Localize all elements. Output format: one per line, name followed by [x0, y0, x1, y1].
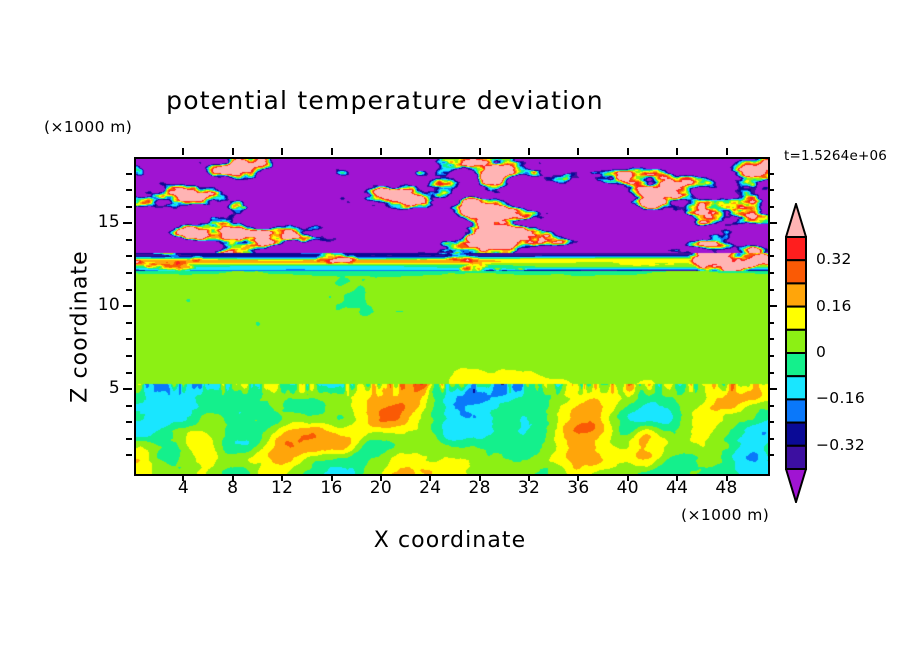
x-tick-label: 40	[608, 478, 648, 498]
y-tick	[126, 255, 132, 257]
y-tick	[768, 239, 774, 241]
y-tick	[768, 255, 774, 257]
y-tick	[768, 305, 777, 307]
x-tick	[577, 148, 579, 155]
x-tick-label: 20	[361, 478, 401, 498]
y-tick	[768, 222, 777, 224]
x-tick-label: 8	[213, 478, 253, 498]
y-tick	[126, 272, 132, 274]
y-tick	[126, 322, 132, 324]
contour-field	[136, 159, 768, 474]
x-axis-units-label: (×1000 m)	[681, 506, 769, 524]
y-tick	[126, 173, 132, 175]
x-tick-label: 16	[312, 478, 352, 498]
y-tick	[126, 206, 132, 208]
y-tick	[126, 454, 132, 456]
y-tick	[123, 388, 132, 390]
y-tick	[126, 405, 132, 407]
x-tick-label: 44	[657, 478, 697, 498]
x-tick	[528, 148, 530, 155]
y-tick	[123, 305, 132, 307]
y-tick	[126, 355, 132, 357]
y-tick	[768, 438, 774, 440]
y-tick	[768, 338, 774, 340]
y-tick	[126, 421, 132, 423]
x-tick-label: 12	[262, 478, 302, 498]
y-tick	[126, 189, 132, 191]
colorbar	[785, 203, 807, 503]
y-tick	[768, 388, 777, 390]
x-axis-title: X coordinate	[134, 528, 766, 553]
x-tick	[331, 148, 333, 155]
colorbar-tick-label: 0	[816, 343, 826, 361]
colorbar-swatches	[785, 203, 807, 503]
y-axis-units-label: (×1000 m)	[44, 118, 132, 136]
time-annotation: t=1.5264e+06	[784, 148, 887, 164]
y-tick	[768, 206, 774, 208]
y-tick	[768, 272, 774, 274]
x-tick	[182, 148, 184, 155]
y-tick	[126, 438, 132, 440]
x-tick	[726, 148, 728, 155]
y-tick	[768, 454, 774, 456]
y-tick	[768, 322, 774, 324]
y-tick	[126, 289, 132, 291]
x-tick	[676, 148, 678, 155]
y-tick	[768, 173, 774, 175]
plot-area	[134, 157, 770, 476]
y-axis-title: Z coordinate	[68, 207, 93, 447]
page-title: potential temperature deviation	[0, 86, 770, 115]
x-tick	[281, 148, 283, 155]
x-tick-label: 32	[509, 478, 549, 498]
colorbar-tick-label: −0.32	[816, 436, 865, 454]
y-tick	[768, 421, 774, 423]
y-tick	[126, 372, 132, 374]
x-tick	[429, 148, 431, 155]
x-tick-label: 28	[460, 478, 500, 498]
x-tick-label: 36	[558, 478, 598, 498]
y-tick	[768, 355, 774, 357]
colorbar-tick-label: 0.16	[816, 297, 852, 315]
y-tick	[126, 239, 132, 241]
x-tick	[380, 148, 382, 155]
y-tick	[768, 189, 774, 191]
colorbar-tick-label: −0.16	[816, 389, 865, 407]
x-tick-label: 4	[163, 478, 203, 498]
y-tick	[123, 222, 132, 224]
x-tick-label: 48	[707, 478, 747, 498]
y-tick	[768, 372, 774, 374]
x-tick	[479, 148, 481, 155]
y-tick	[768, 405, 774, 407]
x-tick-label: 24	[410, 478, 450, 498]
y-tick	[126, 338, 132, 340]
colorbar-tick-label: 0.32	[816, 250, 852, 268]
x-tick	[627, 148, 629, 155]
x-tick	[232, 148, 234, 155]
figure-root: potential temperature deviation (×1000 m…	[0, 0, 904, 654]
y-tick	[768, 289, 774, 291]
